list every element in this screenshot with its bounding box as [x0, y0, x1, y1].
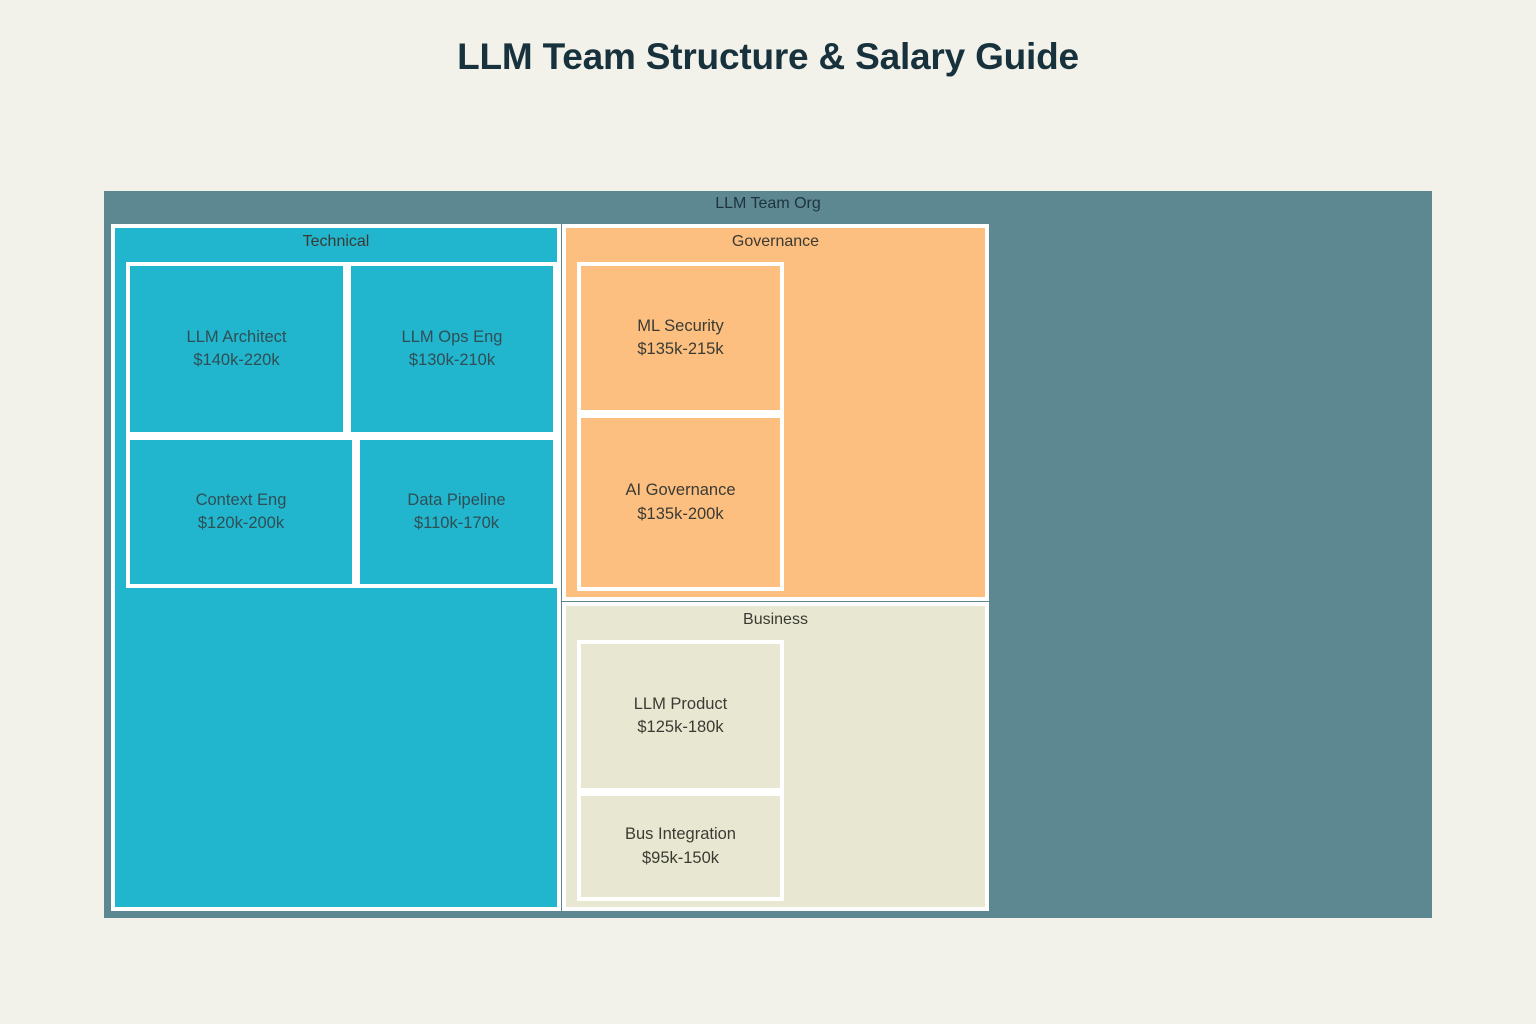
- group-label-business: Business: [566, 611, 985, 629]
- treemap-tile-llm-architect[interactable]: LLM Architect $140k-220k: [126, 262, 347, 436]
- treemap-group-technical[interactable]: Technical LLM Architect $140k-220k LLM O…: [111, 224, 561, 911]
- tile-salary: $110k-170k: [414, 512, 499, 535]
- group-label-governance: Governance: [566, 233, 985, 251]
- tile-label: Context Eng: [196, 489, 287, 512]
- tile-label: LLM Architect: [187, 326, 287, 349]
- group-label-technical: Technical: [115, 233, 557, 251]
- page-title: LLM Team Structure & Salary Guide: [0, 36, 1536, 78]
- tile-salary: $140k-220k: [193, 349, 279, 372]
- tile-salary: $135k-215k: [637, 338, 723, 361]
- tile-salary: $125k-180k: [637, 716, 723, 739]
- treemap-tile-ml-security[interactable]: ML Security $135k-215k: [577, 262, 784, 414]
- treemap-tile-data-pipeline[interactable]: Data Pipeline $110k-170k: [356, 436, 557, 588]
- tile-label: LLM Ops Eng: [402, 326, 503, 349]
- tile-label: ML Security: [637, 315, 724, 338]
- treemap-group-business[interactable]: Business LLM Product $125k-180k Bus Inte…: [562, 602, 989, 911]
- tile-label: Bus Integration: [625, 823, 736, 846]
- treemap-tile-llm-product[interactable]: LLM Product $125k-180k: [577, 640, 784, 792]
- tile-salary: $95k-150k: [642, 847, 719, 870]
- tile-salary: $120k-200k: [198, 512, 284, 535]
- tile-label: LLM Product: [634, 693, 728, 716]
- treemap-tile-bus-integration[interactable]: Bus Integration $95k-150k: [577, 792, 784, 901]
- treemap-root-label: LLM Team Org: [104, 195, 1432, 213]
- treemap-tile-llm-ops-eng[interactable]: LLM Ops Eng $130k-210k: [347, 262, 557, 436]
- treemap-tile-context-eng[interactable]: Context Eng $120k-200k: [126, 436, 356, 588]
- tile-label: AI Governance: [625, 479, 735, 502]
- tile-salary: $130k-210k: [409, 349, 495, 372]
- treemap-root: LLM Team Org Technical LLM Architect $14…: [104, 191, 1432, 918]
- tile-salary: $135k-200k: [637, 503, 723, 526]
- treemap-group-governance[interactable]: Governance ML Security $135k-215k AI Gov…: [562, 224, 989, 601]
- tile-label: Data Pipeline: [407, 489, 505, 512]
- treemap-tile-ai-governance[interactable]: AI Governance $135k-200k: [577, 414, 784, 591]
